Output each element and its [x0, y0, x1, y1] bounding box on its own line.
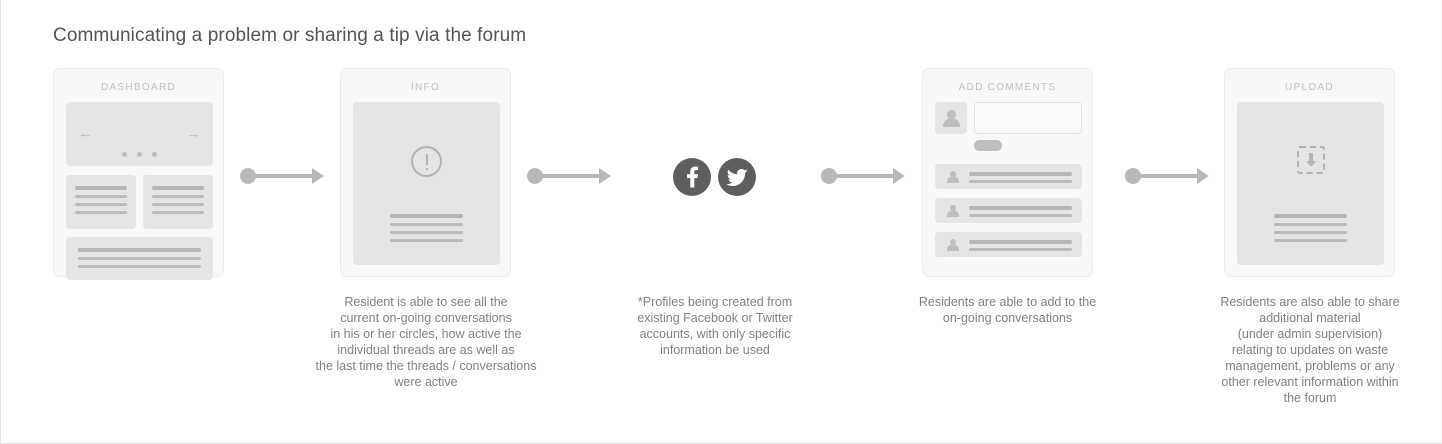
text-line: [1274, 231, 1347, 234]
card-label-add-comments: ADD COMMENTS: [923, 82, 1092, 93]
text-line: [1274, 239, 1347, 242]
text-line: [75, 186, 127, 190]
wireframe-card-add-comments[interactable]: ADD COMMENTS: [922, 68, 1093, 277]
text-placeholder-lines: [969, 206, 1072, 221]
text-line: [390, 239, 463, 242]
caption-social: *Profiles being created from existing Fa…: [609, 294, 821, 358]
text-line: [152, 195, 204, 198]
person-icon: [945, 203, 961, 219]
twitter-icon[interactable]: [718, 158, 756, 196]
content-block[interactable]: [143, 175, 213, 229]
text-line: [969, 240, 1072, 244]
page-title: Communicating a problem or sharing a tip…: [53, 25, 526, 47]
carousel-dot[interactable]: [152, 152, 157, 157]
carousel-dots[interactable]: [66, 152, 213, 157]
flow-connector-arrow: [1125, 166, 1209, 186]
text-placeholder-lines: [1274, 214, 1347, 247]
text-line: [969, 214, 1072, 217]
text-placeholder-lines: [75, 186, 127, 219]
text-line: [78, 257, 201, 260]
comment-input[interactable]: [974, 102, 1082, 134]
facebook-icon[interactable]: [673, 158, 711, 196]
comment-row[interactable]: [935, 198, 1082, 223]
text-line: [78, 248, 201, 252]
connector-arrowhead: [893, 168, 905, 184]
text-line: [75, 195, 127, 198]
carousel-dot[interactable]: [122, 152, 127, 157]
text-line: [390, 231, 463, 234]
text-line: [152, 203, 204, 206]
avatar: [935, 102, 967, 134]
text-line: [390, 214, 463, 218]
flow-connector-arrow: [240, 166, 324, 186]
card-label-upload: UPLOAD: [1225, 82, 1394, 93]
text-line: [969, 180, 1072, 183]
connector-arrowhead: [1197, 168, 1209, 184]
text-placeholder-lines: [78, 248, 201, 273]
text-line: [390, 223, 463, 226]
text-line: [75, 203, 127, 206]
text-placeholder-lines: [969, 172, 1072, 187]
connector-arrowhead: [599, 168, 611, 184]
content-block[interactable]: [66, 175, 136, 229]
post-comment-button[interactable]: [974, 140, 1002, 151]
person-icon: [945, 237, 961, 253]
person-icon: [945, 169, 961, 185]
comment-row[interactable]: [935, 232, 1082, 257]
upload-arrow-icon[interactable]: [1237, 146, 1384, 179]
connector-arrowhead: [312, 168, 324, 184]
upload-panel-placeholder[interactable]: [1237, 102, 1384, 265]
text-line: [1274, 223, 1347, 226]
flow-connector-arrow: [821, 166, 905, 186]
caption-add-comments: Residents are able to add to the on-goin…: [894, 294, 1121, 326]
arrow-left-icon[interactable]: ←: [78, 126, 93, 141]
text-line: [78, 265, 201, 268]
text-placeholder-lines: [152, 186, 204, 219]
alert-circle-icon: [353, 146, 500, 182]
wireframe-card-info[interactable]: INFO: [340, 68, 511, 277]
person-icon: [935, 102, 967, 134]
slide-canvas: Communicating a problem or sharing a tip…: [0, 0, 1442, 444]
card-label-info: INFO: [341, 82, 510, 93]
arrow-right-icon[interactable]: →: [186, 126, 201, 141]
flow-connector-arrow: [527, 166, 611, 186]
connector-line: [1138, 174, 1199, 178]
text-line: [152, 211, 204, 214]
content-block-wide[interactable]: [66, 237, 213, 280]
connector-line: [540, 174, 601, 178]
text-line: [969, 172, 1072, 176]
connector-line: [834, 174, 895, 178]
caption-info: Resident is able to see all the current …: [281, 294, 571, 390]
carousel-placeholder[interactable]: ← →: [66, 102, 213, 166]
comment-row[interactable]: [935, 164, 1082, 189]
social-accounts-group: [673, 158, 756, 196]
card-label-dashboard: DASHBOARD: [54, 82, 223, 93]
text-line: [152, 186, 204, 190]
text-placeholder-lines: [390, 214, 463, 247]
caption-upload: Residents are also able to share additio…: [1199, 294, 1421, 406]
text-line: [75, 211, 127, 214]
text-placeholder-lines: [969, 240, 1072, 255]
info-panel-placeholder[interactable]: [353, 102, 500, 265]
wireframe-card-dashboard[interactable]: DASHBOARD ← →: [53, 68, 224, 277]
connector-line: [253, 174, 314, 178]
wireframe-card-upload[interactable]: UPLOAD: [1224, 68, 1395, 277]
text-line: [1274, 214, 1347, 218]
carousel-dot[interactable]: [137, 152, 142, 157]
text-line: [969, 206, 1072, 210]
text-line: [969, 248, 1072, 251]
